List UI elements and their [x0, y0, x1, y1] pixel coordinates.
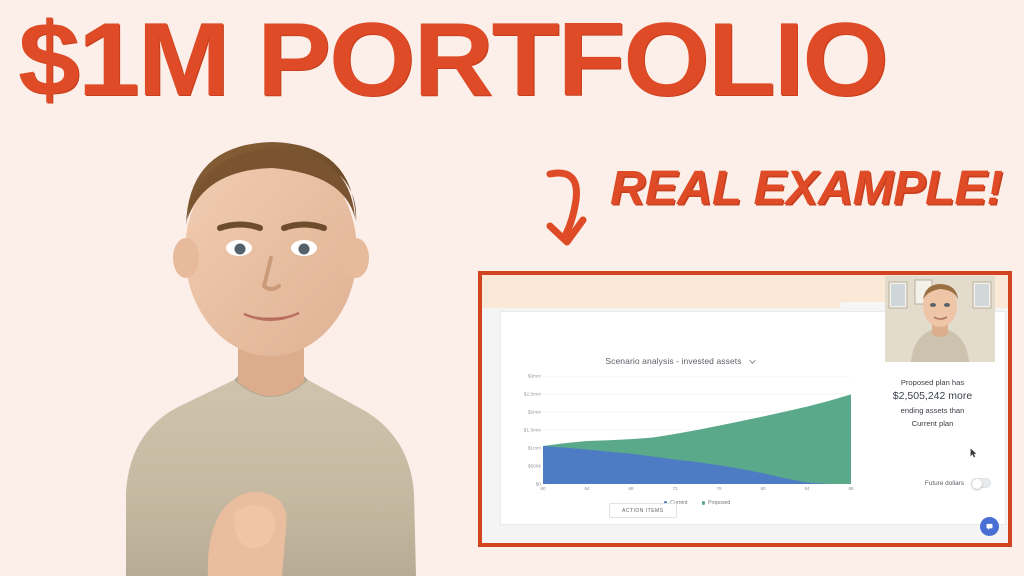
summary-text: Proposed plan has $2,505,242 more ending…	[860, 376, 1005, 430]
chat-bubble-icon[interactable]	[980, 517, 999, 536]
area-chart-svg	[543, 376, 851, 484]
legend-item[interactable]: Proposed	[702, 500, 731, 506]
thumbnail-canvas: $1M PORTFOLIO REAL EXAMPLE! Scenario ana…	[0, 0, 1024, 576]
scenario-analysis-card: Scenario analysis - invested assets $0$5…	[500, 311, 1006, 525]
chart-title: Scenario analysis - invested assets	[605, 356, 741, 366]
x-tick-label: 76	[716, 486, 721, 491]
app-body: Scenario analysis - invested assets $0$5…	[482, 308, 1008, 543]
app-screenshot-panel: Scenario analysis - invested assets $0$5…	[478, 271, 1012, 547]
chart-header[interactable]: Scenario analysis - invested assets	[501, 356, 861, 366]
summary-line-3: Current plan	[860, 417, 1005, 430]
legend-dot-icon	[702, 501, 706, 505]
x-tick-label: 72	[672, 486, 677, 491]
x-tick-label: 64	[584, 486, 589, 491]
chart-legend: CurrentProposed	[543, 500, 851, 506]
badge-group: REAL EXAMPLE!	[530, 150, 990, 258]
y-tick-label: $2mm	[528, 410, 541, 415]
webcam-overlay	[885, 276, 995, 362]
x-tick-label: 68	[628, 486, 633, 491]
y-axis-labels: $0$500k$1mm$1.5mm$2mm$2.5mm$3mm	[509, 376, 543, 484]
y-tick-label: $2.5mm	[524, 392, 541, 397]
future-dollars-label: Future dollars	[925, 480, 964, 487]
y-tick-label: $500k	[528, 464, 541, 469]
x-tick-label: 88	[848, 486, 853, 491]
summary-amount: $2,505,242 more	[860, 389, 1005, 404]
legend-label: Proposed	[708, 500, 730, 506]
badge-label: REAL EXAMPLE!	[610, 164, 1002, 214]
chart-plot-area: $0$500k$1mm$1.5mm$2mm$2.5mm$3mm 60646872…	[509, 376, 861, 504]
headline-title: $1M PORTFOLIO	[18, 8, 1024, 116]
summary-line-1: Proposed plan has	[860, 376, 1005, 389]
mouse-pointer-icon	[970, 448, 977, 458]
x-tick-label: 60	[540, 486, 545, 491]
summary-line-2: ending assets than	[860, 404, 1005, 417]
chat-glyph	[985, 522, 994, 531]
presenter-photo	[58, 62, 488, 576]
y-tick-label: $1mm	[528, 446, 541, 451]
future-dollars-toggle[interactable]	[971, 478, 991, 488]
x-axis-labels: 6064687276808488	[543, 486, 851, 496]
y-tick-label: $1.5mm	[524, 428, 541, 433]
future-dollars-toggle-row[interactable]: Future dollars	[925, 478, 991, 488]
x-tick-label: 80	[760, 486, 765, 491]
action-items-button[interactable]: ACTION ITEMS	[609, 503, 677, 518]
scenario-side-panel: Proposed plan has $2,505,242 more ending…	[860, 312, 1005, 524]
curved-down-arrow-icon	[536, 158, 608, 246]
chevron-down-icon[interactable]	[748, 357, 757, 366]
x-tick-label: 84	[804, 486, 809, 491]
y-tick-label: $3mm	[528, 374, 541, 379]
toggle-knob	[972, 479, 982, 489]
